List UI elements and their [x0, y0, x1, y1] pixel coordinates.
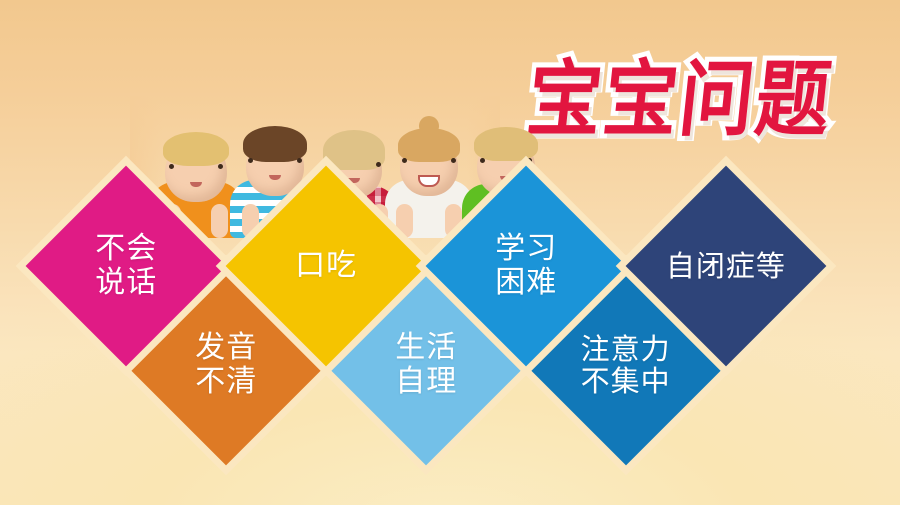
diamond-label-autism-etc: 自闭症等: [666, 250, 786, 282]
child-3-eye-right: [376, 162, 381, 167]
diamond-label-self-care: 生活 自理: [395, 331, 457, 398]
child-2-arm-left: [242, 204, 259, 238]
diamond-label-inattention: 注意力 不集中: [581, 333, 671, 398]
page-title-text: 宝宝问题: [524, 59, 837, 142]
diamond-label-unclear-pronunciation: 发音 不清: [195, 331, 257, 398]
child-4-hair: [398, 128, 460, 162]
poster-canvas: 不会 说话发音 不清口吃生活 自理学习 困难注意力 不集中自闭症等 宝宝问题: [0, 0, 900, 505]
child-5-eye-right: [527, 158, 532, 163]
child-4-arm-left: [396, 204, 413, 238]
child-5-eye-left: [480, 158, 485, 163]
child-5-hair: [474, 127, 538, 161]
child-1-hair: [163, 132, 229, 166]
child-2-hair: [243, 126, 307, 162]
child-3-eye-left: [327, 162, 332, 167]
diamond-label-cannot-speak: 不会 说话: [95, 232, 157, 299]
diamond-label-learning-difficulty: 学习 困难: [495, 232, 557, 299]
child-1-arm-right: [211, 204, 228, 238]
child-2-eye-right: [297, 158, 302, 163]
child-4-eye-left: [402, 158, 407, 163]
page-title: 宝宝问题: [490, 52, 870, 148]
child-1-eye-left: [169, 164, 174, 169]
child-4-eye-right: [451, 158, 456, 163]
child-1-eye-right: [218, 164, 223, 169]
child-2-eye-left: [248, 158, 253, 163]
diamond-label-stuttering: 口吃: [295, 249, 357, 283]
